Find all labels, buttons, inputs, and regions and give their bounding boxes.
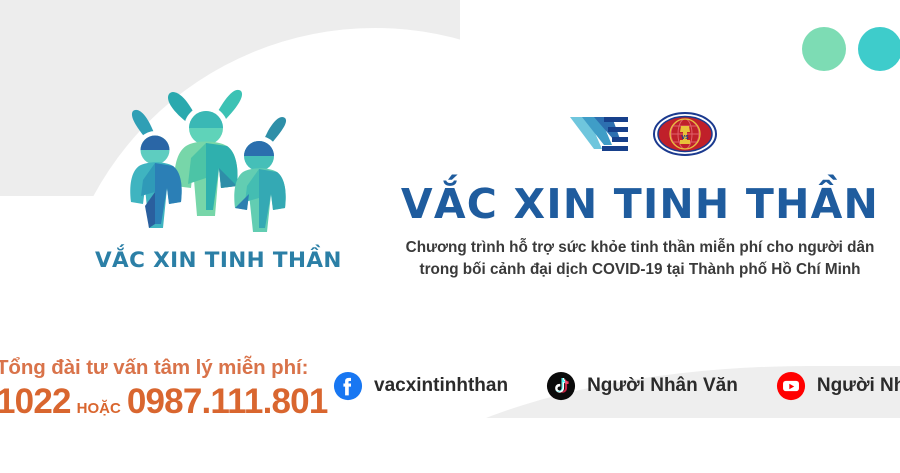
hotline-number-primary[interactable]: 1022 [0, 382, 71, 422]
page-subtitle: Chương trình hỗ trợ sức khỏe tinh thần m… [380, 237, 900, 281]
hotline-number-secondary[interactable]: 0987.111.801 [127, 382, 328, 422]
page-subtitle-line-1: Chương trình hỗ trợ sức khỏe tinh thần m… [380, 237, 900, 259]
facebook-icon[interactable] [333, 371, 363, 401]
brand-logo-caption: VẮC XIN TINH THẦN [95, 248, 315, 273]
hotline-numbers: 1022 HOẶC 0987.111.801 [0, 382, 326, 422]
decorative-dot-teal [858, 27, 900, 71]
chevron-wave-logo [568, 113, 631, 160]
hotline-block: Tổng đài tư vấn tâm lý miễn phí: 1022 HO… [0, 356, 326, 422]
oval-emblem-logo: VS [653, 112, 717, 161]
youtube-icon[interactable] [776, 371, 806, 401]
svg-text:VS: VS [681, 135, 689, 141]
brand-logo: VẮC XIN TINH THẦN [95, 88, 315, 288]
page-subtitle-line-2: trong bối cảnh đại dịch COVID-19 tại Thà… [380, 259, 900, 281]
social-link-tiktok[interactable]: Người Nhân Văn [546, 371, 738, 401]
social-link-youtube[interactable]: Người Nhâ [776, 371, 900, 401]
three-people-raised-arms-icon [103, 88, 308, 243]
poster-canvas: VẮC XIN TINH THẦN [0, 0, 900, 473]
social-label-youtube: Người Nhâ [817, 375, 900, 397]
social-links-row: vacxintinhthan Người Nhân Văn [333, 371, 900, 401]
decorative-dots-group [802, 27, 900, 71]
decorative-dot-mint [802, 27, 846, 71]
hotline-label: Tổng đài tư vấn tâm lý miễn phí: [0, 356, 326, 380]
headline-block: VẮC XIN TINH THẦN Chương trình hỗ trợ sứ… [380, 183, 900, 281]
social-label-facebook: vacxintinhthan [374, 375, 508, 397]
page-title: VẮC XIN TINH THẦN [380, 183, 900, 226]
partner-logos-group: VS [568, 112, 717, 161]
social-label-tiktok: Người Nhân Văn [587, 375, 738, 397]
hotline-separator: HOẶC [71, 400, 127, 417]
social-link-facebook[interactable]: vacxintinhthan [333, 371, 508, 401]
tiktok-icon[interactable] [546, 371, 576, 401]
